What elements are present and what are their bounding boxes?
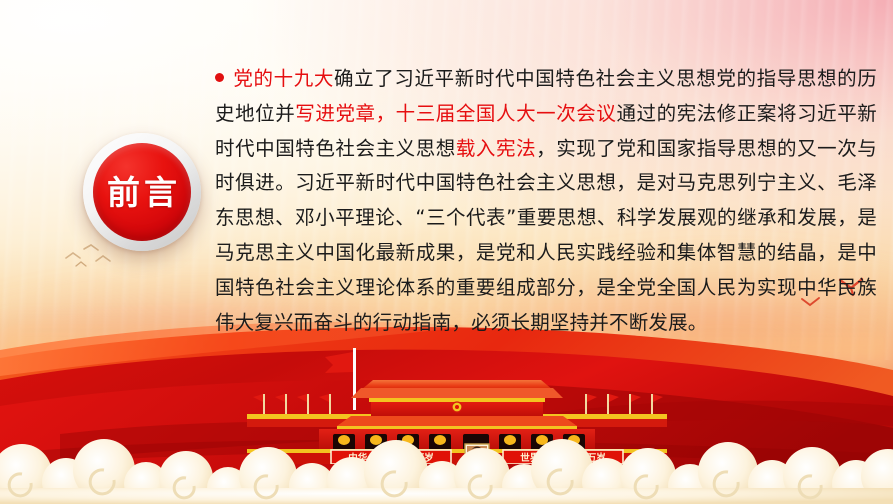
auspicious-clouds-icon	[0, 426, 893, 504]
preface-badge-label: 前言	[103, 176, 181, 209]
body-segment-5: ，实现了党和国家指导思想的又一次与时俱进。习近平新时代中国特色社会主义思想，是对…	[215, 137, 877, 334]
bullet-dot-icon	[215, 73, 224, 82]
body-paragraph: 党的十九大确立了习近平新时代中国特色社会主义思想党的指导思想的历史地位并写进党章…	[215, 62, 877, 340]
preface-badge-inner: 前言	[93, 143, 191, 241]
body-segment-0: 党的十九大	[233, 67, 334, 90]
preface-badge: 前言	[83, 133, 201, 251]
presentation-slide: 中华人民共和国万岁 世界人民大团结万岁	[0, 0, 893, 504]
body-segment-2: 写进党章，十三届全国人大一次会议	[295, 102, 616, 125]
body-segment-4: 载入宪法	[456, 137, 536, 160]
